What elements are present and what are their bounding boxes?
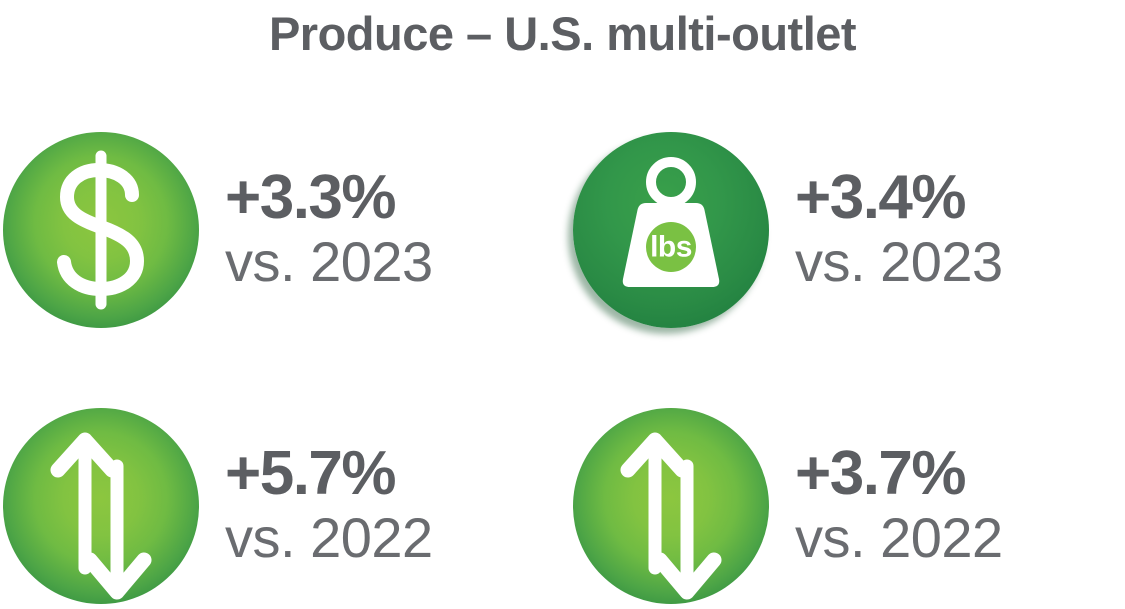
stat-text-volume-vs-2022: +3.7% vs. 2022 [795, 444, 1003, 568]
stat-card-volume-lbs: lbs +3.4% vs. 2023 [573, 132, 1003, 328]
stat-value: +5.7% [225, 444, 433, 505]
infographic-root: Produce – U.S. multi-outlet +3.3% vs. 20… [0, 0, 1125, 609]
stat-card-volume-vs-2022: +3.7% vs. 2022 [573, 408, 1003, 604]
stat-text-units-vs-2022: +5.7% vs. 2022 [225, 444, 433, 568]
stat-label: vs. 2023 [225, 233, 433, 292]
icon-circle-arrows-left [3, 408, 199, 604]
stat-card-units-vs-2022: +5.7% vs. 2022 [3, 408, 433, 604]
lbs-badge-label: lbs [650, 231, 692, 264]
stat-value: +3.7% [795, 444, 1003, 505]
weight-lbs-icon: lbs [573, 132, 769, 328]
stat-label: vs. 2022 [795, 509, 1003, 568]
icon-circle-dollar [3, 132, 199, 328]
icon-circle-arrows-right [573, 408, 769, 604]
stat-card-dollar-sales: +3.3% vs. 2023 [3, 132, 433, 328]
up-down-arrows-icon [573, 408, 769, 604]
stat-value: +3.4% [795, 168, 1003, 229]
dollar-sign-icon [3, 132, 199, 328]
stat-value: +3.3% [225, 168, 433, 229]
icon-circle-weight: lbs [573, 132, 769, 328]
stat-text-dollar-sales: +3.3% vs. 2023 [225, 168, 433, 292]
page-title: Produce – U.S. multi-outlet [0, 6, 1125, 61]
stat-label: vs. 2022 [225, 509, 433, 568]
up-down-arrows-icon [3, 408, 199, 604]
stat-text-volume-lbs: +3.4% vs. 2023 [795, 168, 1003, 292]
stat-label: vs. 2023 [795, 233, 1003, 292]
